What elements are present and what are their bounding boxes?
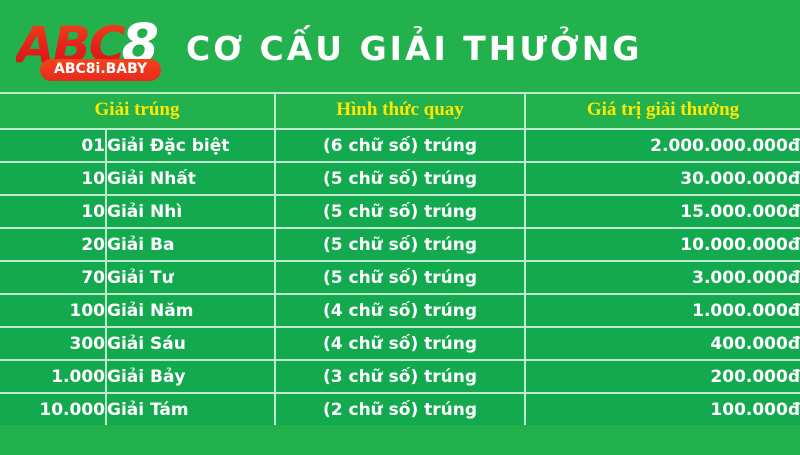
banner-header: ABC8 ABC8i.BABY CƠ CẤU GIẢI THƯỞNG (0, 0, 800, 92)
prize-structure-banner: ABC8 ABC8i.BABY CƠ CẤU GIẢI THƯỞNG Giải … (0, 0, 800, 400)
cell-prize-count: 10 (0, 195, 106, 228)
column-header-prize: Giải trúng (0, 93, 275, 129)
cell-prize-count: 70 (0, 261, 106, 294)
cell-draw-form: (5 chữ số) trúng (275, 195, 525, 228)
cell-prize-value: 400.000đ (525, 327, 800, 360)
cell-draw-form: (5 chữ số) trúng (275, 228, 525, 261)
cell-prize-name: Giải Bảy (106, 360, 275, 393)
cell-prize-count: 300 (0, 327, 106, 360)
cell-prize-name: Giải Nhất (106, 162, 275, 195)
cell-prize-name: Giải Năm (106, 294, 275, 327)
table-header: Giải trúng Hình thức quay Giá trị giải t… (0, 93, 800, 129)
cell-draw-form: (2 chữ số) trúng (275, 393, 525, 425)
logo-domain-badge[interactable]: ABC8i.BABY (40, 59, 161, 81)
cell-prize-name: Giải Tám (106, 393, 275, 425)
cell-draw-form: (6 chữ số) trúng (275, 129, 525, 162)
cell-prize-count: 10.000 (0, 393, 106, 425)
cell-prize-count: 01 (0, 129, 106, 162)
prize-structure-table: Giải trúng Hình thức quay Giá trị giải t… (0, 92, 800, 425)
table-row: 300 Giải Sáu (4 chữ số) trúng 400.000đ (0, 327, 800, 360)
table-row: 70 Giải Tư (5 chữ số) trúng 3.000.000đ (0, 261, 800, 294)
cell-prize-count: 10 (0, 162, 106, 195)
table-row: 10 Giải Nhất (5 chữ số) trúng 30.000.000… (0, 162, 800, 195)
table-body: 01 Giải Đặc biệt (6 chữ số) trúng 2.000.… (0, 129, 800, 425)
cell-draw-form: (4 chữ số) trúng (275, 294, 525, 327)
cell-prize-value: 1.000.000đ (525, 294, 800, 327)
cell-prize-name: Giải Sáu (106, 327, 275, 360)
cell-prize-count: 100 (0, 294, 106, 327)
cell-prize-name: Giải Đặc biệt (106, 129, 275, 162)
table-row: 10.000 Giải Tám (2 chữ số) trúng 100.000… (0, 393, 800, 425)
table-row: 01 Giải Đặc biệt (6 chữ số) trúng 2.000.… (0, 129, 800, 162)
cell-prize-name: Giải Ba (106, 228, 275, 261)
banner-footer-fill (0, 425, 800, 455)
cell-prize-count: 20 (0, 228, 106, 261)
cell-prize-value: 30.000.000đ (525, 162, 800, 195)
cell-prize-name: Giải Tư (106, 261, 275, 294)
cell-draw-form: (5 chữ số) trúng (275, 162, 525, 195)
table-header-row: Giải trúng Hình thức quay Giá trị giải t… (0, 93, 800, 129)
cell-prize-count: 1.000 (0, 360, 106, 393)
table-row: 10 Giải Nhì (5 chữ số) trúng 15.000.000đ (0, 195, 800, 228)
cell-draw-form: (5 chữ số) trúng (275, 261, 525, 294)
cell-draw-form: (3 chữ số) trúng (275, 360, 525, 393)
cell-draw-form: (4 chữ số) trúng (275, 327, 525, 360)
table-row: 1.000 Giải Bảy (3 chữ số) trúng 200.000đ (0, 360, 800, 393)
page-title: CƠ CẤU GIẢI THƯỞNG (176, 31, 800, 67)
cell-prize-value: 10.000.000đ (525, 228, 800, 261)
cell-prize-value: 15.000.000đ (525, 195, 800, 228)
cell-prize-value: 2.000.000.000đ (525, 129, 800, 162)
table-row: 100 Giải Năm (4 chữ số) trúng 1.000.000đ (0, 294, 800, 327)
column-header-prize-value: Giá trị giải thưởng (525, 93, 800, 129)
column-header-draw-form: Hình thức quay (275, 93, 525, 129)
table-row: 20 Giải Ba (5 chữ số) trúng 10.000.000đ (0, 228, 800, 261)
cell-prize-name: Giải Nhì (106, 195, 275, 228)
cell-prize-value: 200.000đ (525, 360, 800, 393)
cell-prize-value: 3.000.000đ (525, 261, 800, 294)
brand-logo[interactable]: ABC8 ABC8i.BABY (16, 7, 176, 85)
cell-prize-value: 100.000đ (525, 393, 800, 425)
